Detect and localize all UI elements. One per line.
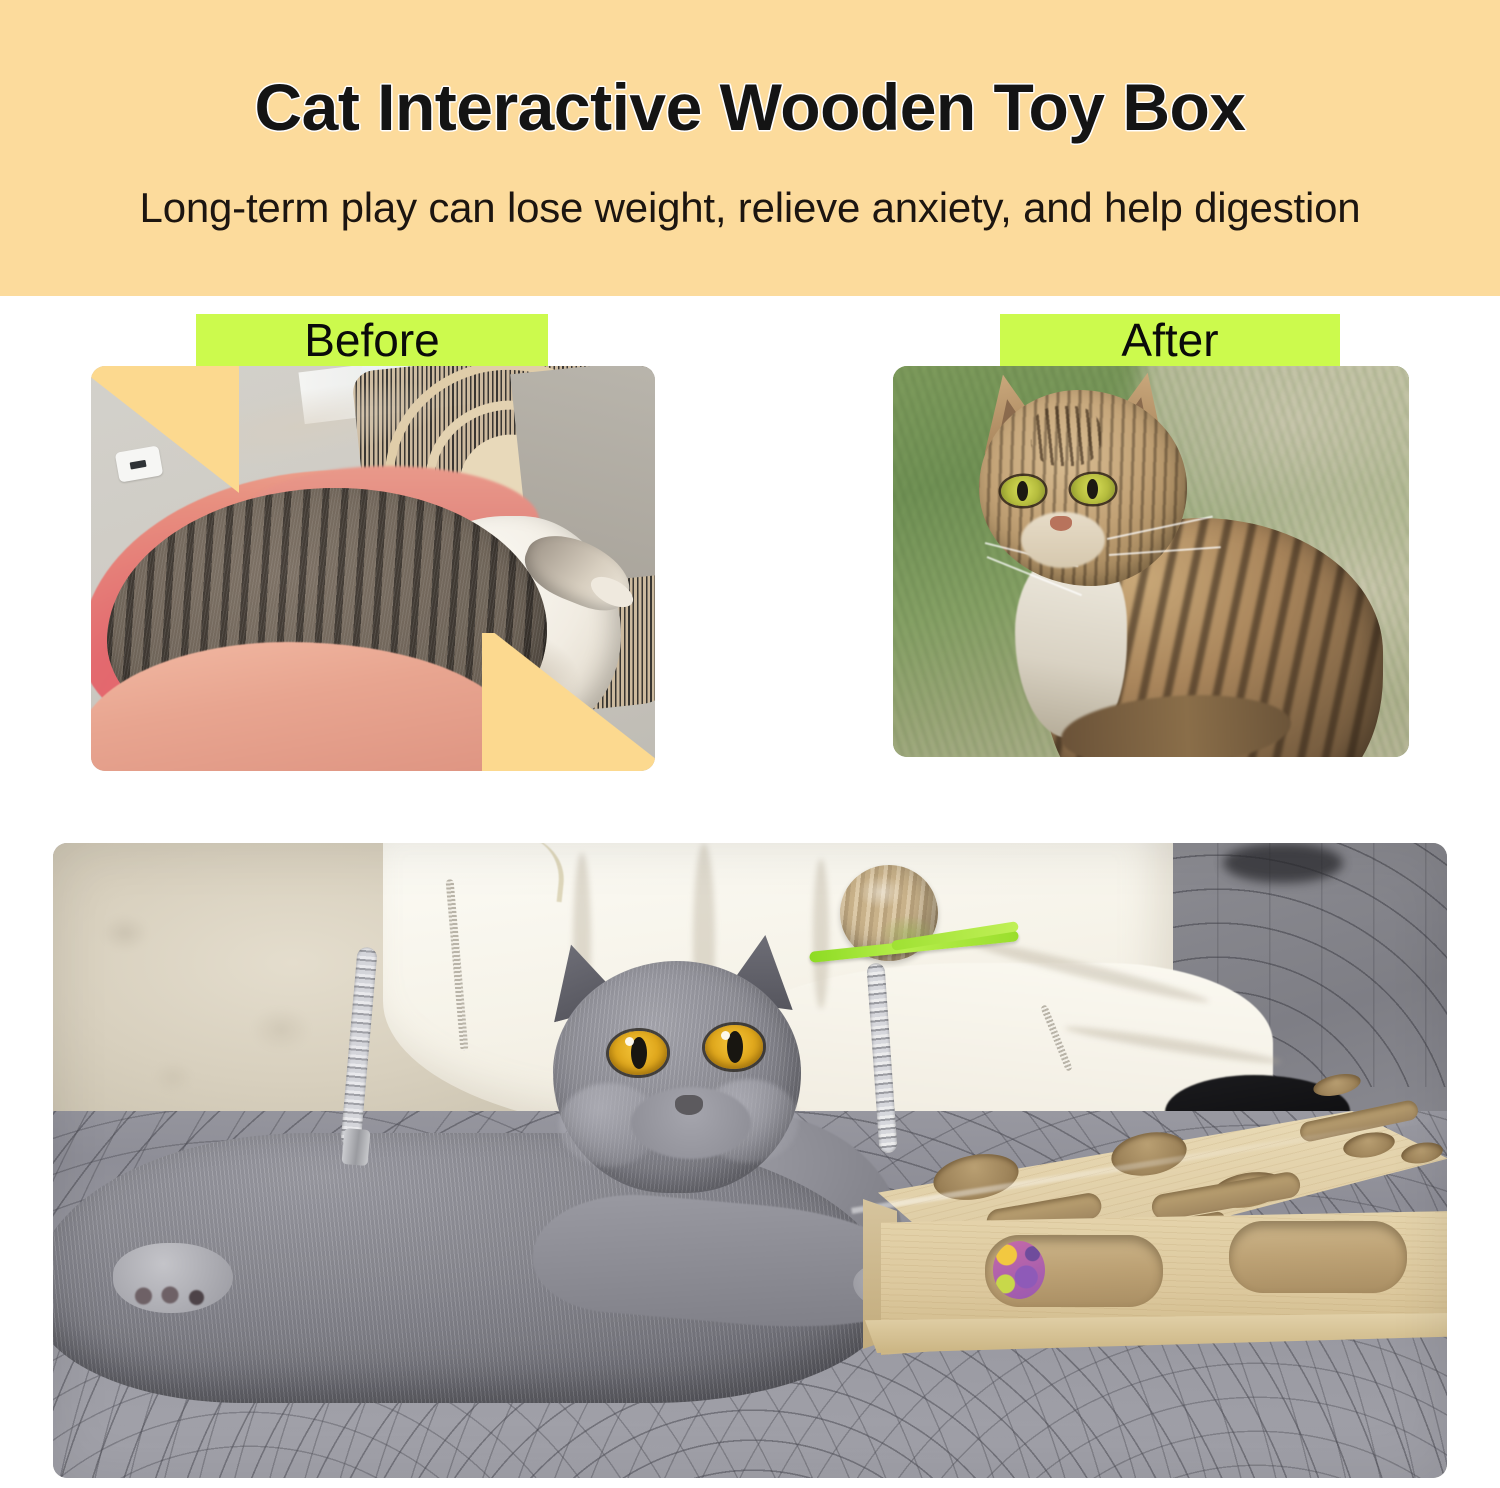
- after-label: After: [1000, 314, 1340, 366]
- after-cat-pupil-right: [1087, 479, 1098, 499]
- before-label: Before: [196, 314, 548, 366]
- cat-eye-glint-right: [721, 1031, 730, 1040]
- after-cat-nose: [1050, 516, 1072, 531]
- after-cat-pupil-left: [1017, 481, 1028, 501]
- photo-corner-accent-bottomright: [482, 633, 655, 771]
- colorful-ball-inside-box: [993, 1241, 1045, 1299]
- photo-corner-accent-topleft: [91, 366, 239, 494]
- before-photo: [91, 366, 655, 771]
- cat-nose: [675, 1095, 703, 1115]
- toy-box-opening-right: [1229, 1221, 1407, 1293]
- page-subtitle: Long-term play can lose weight, relieve …: [0, 185, 1500, 231]
- main-product-photo: [53, 843, 1447, 1478]
- cat-toe-beans: [131, 1283, 209, 1309]
- dark-shadow-top: [1223, 843, 1343, 883]
- page-title: Cat Interactive Wooden Toy Box: [0, 74, 1500, 140]
- fleece-crease-3: [813, 859, 829, 1009]
- sisal-ball-highlight: [858, 875, 904, 909]
- after-cat-forehead-markings: [1031, 406, 1101, 466]
- cat-eye-glint-left: [625, 1037, 634, 1046]
- header-banner: Cat Interactive Wooden Toy Box Long-term…: [0, 0, 1500, 296]
- spring-base-mount: [341, 1128, 370, 1166]
- after-photo: [893, 366, 1409, 757]
